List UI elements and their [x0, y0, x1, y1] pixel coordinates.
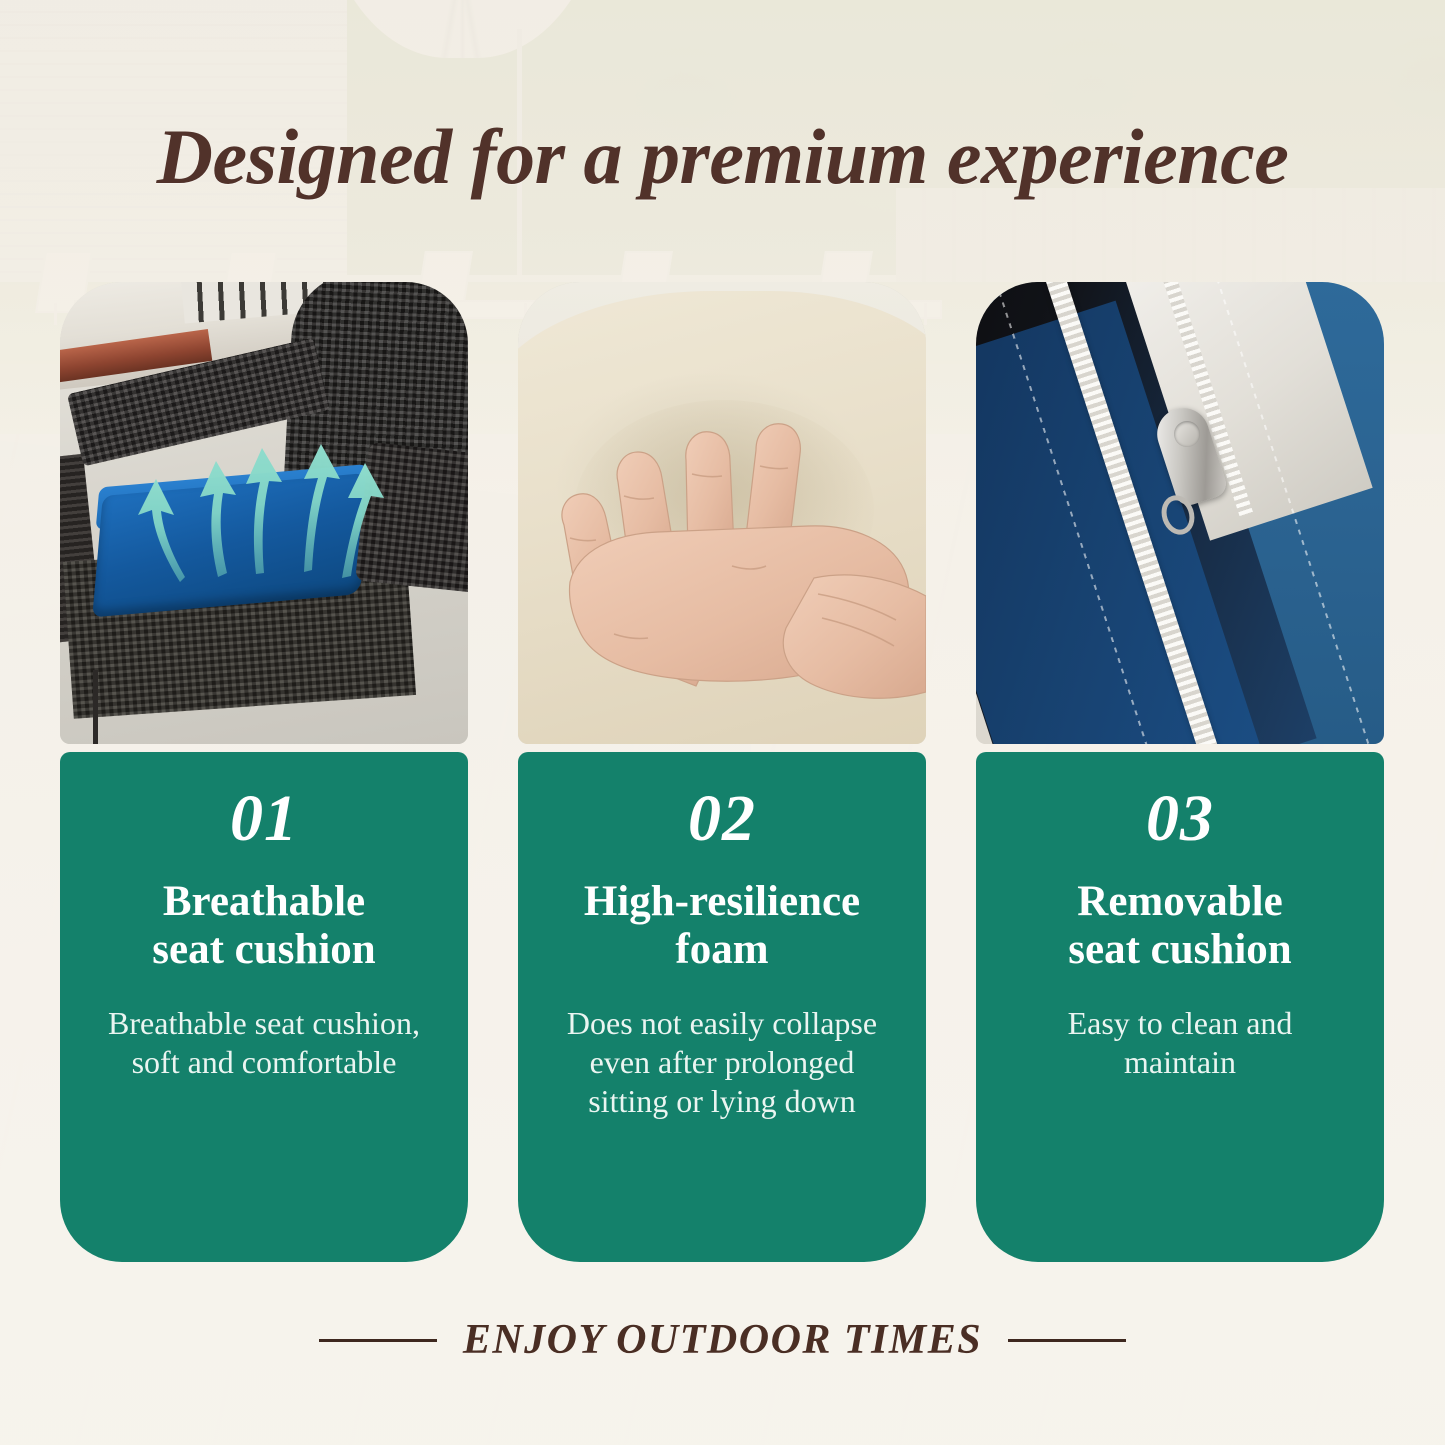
feature-number: 02 [540, 786, 904, 852]
feature-card-row: 01 Breathable seat cushion Breathable se… [60, 282, 1385, 1262]
feature-photo-high-resilience-foam [518, 282, 926, 744]
feature-headline: High-resilience foam [540, 878, 904, 974]
feature-headline: Removable seat cushion [998, 878, 1362, 974]
feature-card: 03 Removable seat cushion Easy to clean … [976, 282, 1384, 1262]
feature-headline: Breathable seat cushion [82, 878, 446, 974]
feature-description: Does not easily collapse even after prol… [540, 1004, 904, 1121]
page-title: Designed for a premium experience [0, 112, 1445, 202]
feature-description: Breathable seat cushion, soft and comfor… [82, 1004, 446, 1082]
footer: ENJOY OUTDOOR TIMES [0, 1316, 1445, 1364]
feature-card: 01 Breathable seat cushion Breathable se… [60, 282, 468, 1262]
footer-tagline: ENJOY OUTDOOR TIMES [463, 1316, 982, 1364]
hand-on-foam-illustration [518, 282, 926, 744]
feature-photo-breathable-cushion [60, 282, 468, 744]
feature-number: 03 [998, 786, 1362, 852]
feature-panel: 02 High-resilience foam Does not easily … [518, 752, 926, 1262]
feature-panel: 01 Breathable seat cushion Breathable se… [60, 752, 468, 1262]
footer-rule-left [319, 1339, 437, 1342]
footer-rule-right [1008, 1339, 1126, 1342]
feature-panel: 03 Removable seat cushion Easy to clean … [976, 752, 1384, 1262]
feature-number: 01 [82, 786, 446, 852]
airflow-arrows-icon [60, 282, 468, 744]
feature-card: 02 High-resilience foam Does not easily … [518, 282, 926, 1262]
feature-photo-removable-cushion-zipper [976, 282, 1384, 744]
infographic-page: Designed for a premium experience [0, 0, 1445, 1445]
feature-description: Easy to clean and maintain [998, 1004, 1362, 1082]
